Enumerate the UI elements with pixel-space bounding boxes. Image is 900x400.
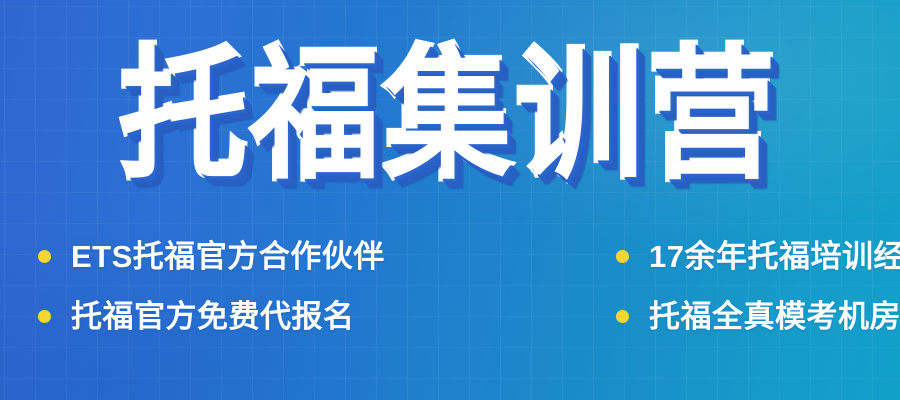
feature-label: 托福全真模考机房 — [649, 301, 900, 332]
headline-container: 托福集训营 — [0, 34, 900, 200]
feature-item-left-1: ETS托福官方合作伙伴 — [0, 226, 500, 286]
bullet-dot-icon — [616, 310, 629, 323]
promo-banner: 托福集训营 ETS托福官方合作伙伴 17余年托福培训经验 托福官方免费代报名 托… — [0, 0, 900, 400]
feature-item-right-1: 17余年托福培训经验 — [500, 226, 900, 286]
feature-item-right-2: 托福全真模考机房 — [500, 286, 900, 346]
feature-item-left-2: 托福官方免费代报名 — [0, 286, 500, 346]
feature-label: ETS托福官方合作伙伴 — [71, 241, 385, 272]
feature-label: 17余年托福培训经验 — [649, 241, 900, 272]
bullet-dot-icon — [616, 250, 629, 263]
bullet-dot-icon — [38, 310, 51, 323]
bullet-dot-icon — [38, 250, 51, 263]
feature-label: 托福官方免费代报名 — [71, 301, 355, 332]
feature-list: ETS托福官方合作伙伴 17余年托福培训经验 托福官方免费代报名 托福全真模考机… — [0, 226, 900, 346]
banner-headline: 托福集训营 — [120, 45, 780, 188]
